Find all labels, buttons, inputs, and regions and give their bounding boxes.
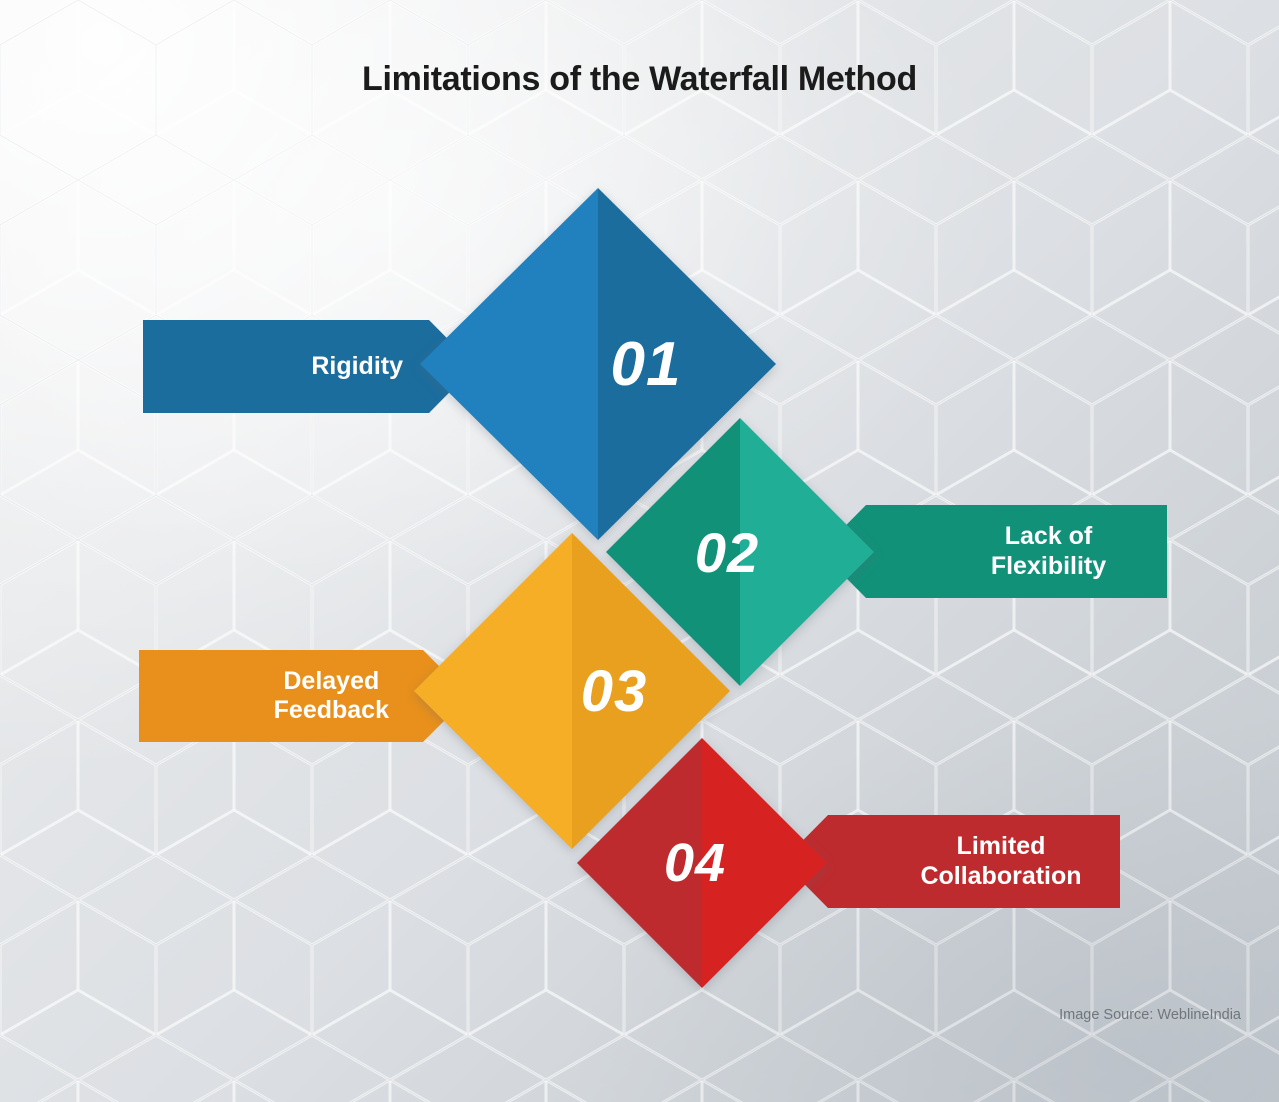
step-4-label: Limited Collaboration — [882, 832, 1120, 891]
step-1-label: Rigidity — [311, 352, 403, 382]
infographic-canvas: Limitations of the Waterfall Method Rigi… — [0, 0, 1279, 1102]
step-4-label-bar[interactable]: Limited Collaboration — [782, 815, 1120, 908]
step-2-label: Lack of Flexibility — [930, 522, 1167, 581]
step-4-diamond[interactable]: 04 — [577, 738, 827, 988]
step-3-label: Delayed Feedback — [274, 667, 389, 726]
step-4-number: 04 — [577, 738, 827, 988]
image-source-credit: Image Source: WeblineIndia — [1059, 1007, 1241, 1023]
waterfall-limitations-diagram: Rigidity 01 Lack of Flexibility 02 Delay… — [0, 0, 1279, 1102]
